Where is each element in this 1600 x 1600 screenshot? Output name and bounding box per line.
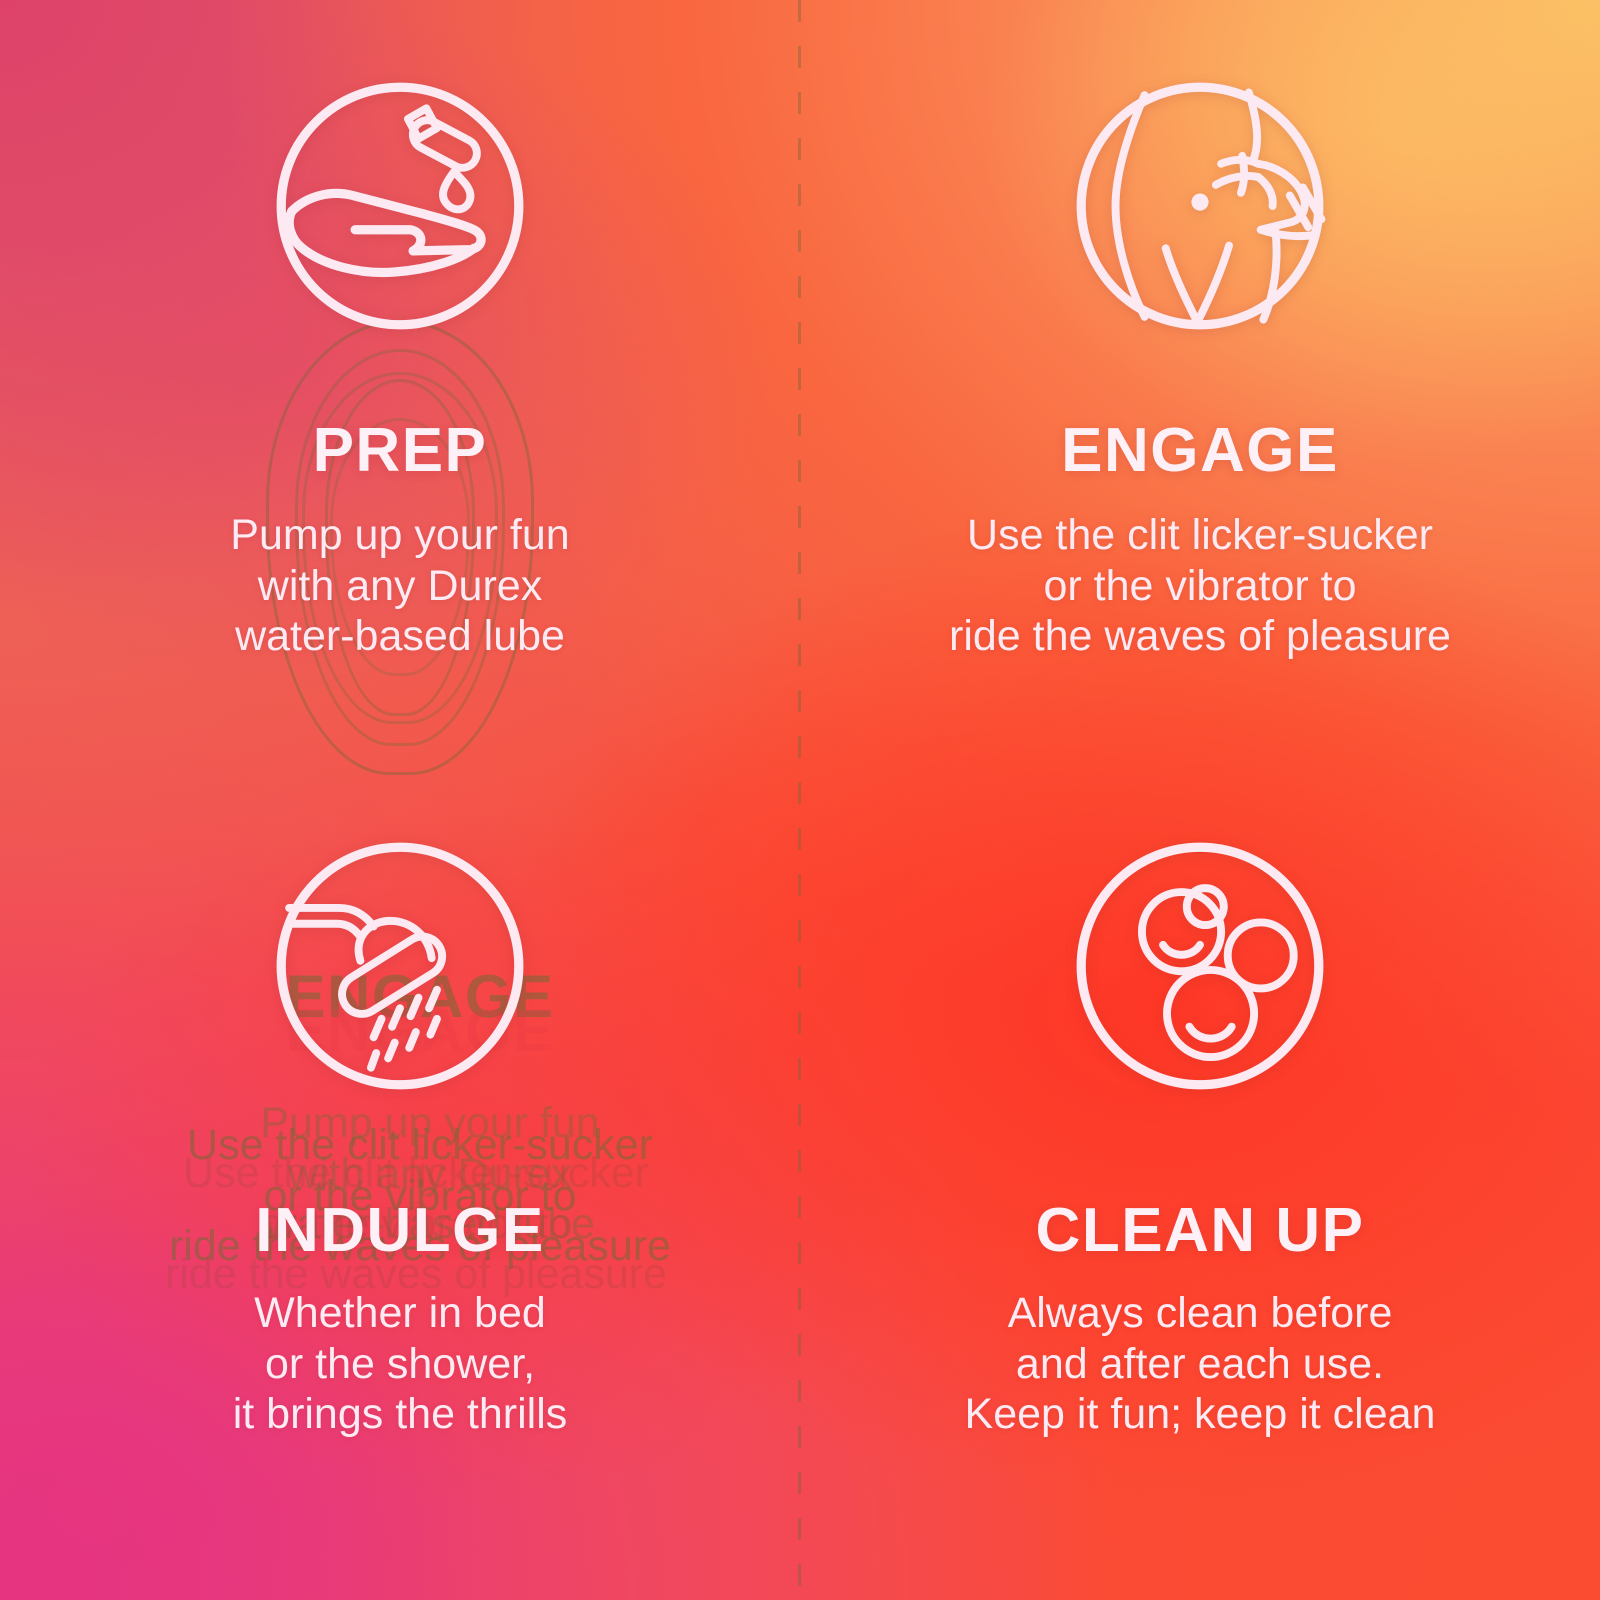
- shower-head-icon: [268, 834, 532, 1098]
- step-card-indulge: INDULGE Whether in bed or the shower, it…: [0, 800, 800, 1600]
- step-heading: CLEAN UP: [1036, 1200, 1365, 1262]
- step-body: Always clean before and after each use. …: [965, 1288, 1436, 1440]
- step-body: Use the clit licker-sucker or the vibrat…: [949, 510, 1451, 662]
- step-heading: ENGAGE: [1061, 420, 1339, 482]
- steps-grid: PREP Pump up your fun with any Durex wat…: [0, 0, 1600, 1600]
- step-heading: INDULGE: [255, 1200, 545, 1262]
- hand-with-lube-drop-icon: [268, 74, 532, 338]
- torso-with-hand-icon: [1068, 74, 1332, 338]
- step-card-engage: ENGAGE Use the clit licker-sucker or the…: [800, 0, 1600, 800]
- step-card-prep: PREP Pump up your fun with any Durex wat…: [0, 0, 800, 800]
- step-body: Pump up your fun with any Durex water-ba…: [230, 510, 569, 662]
- step-body: Whether in bed or the shower, it brings …: [233, 1288, 568, 1440]
- step-card-cleanup: CLEAN UP Always clean before and after e…: [800, 800, 1600, 1600]
- soap-bubbles-icon: [1068, 834, 1332, 1098]
- step-heading: PREP: [313, 420, 488, 482]
